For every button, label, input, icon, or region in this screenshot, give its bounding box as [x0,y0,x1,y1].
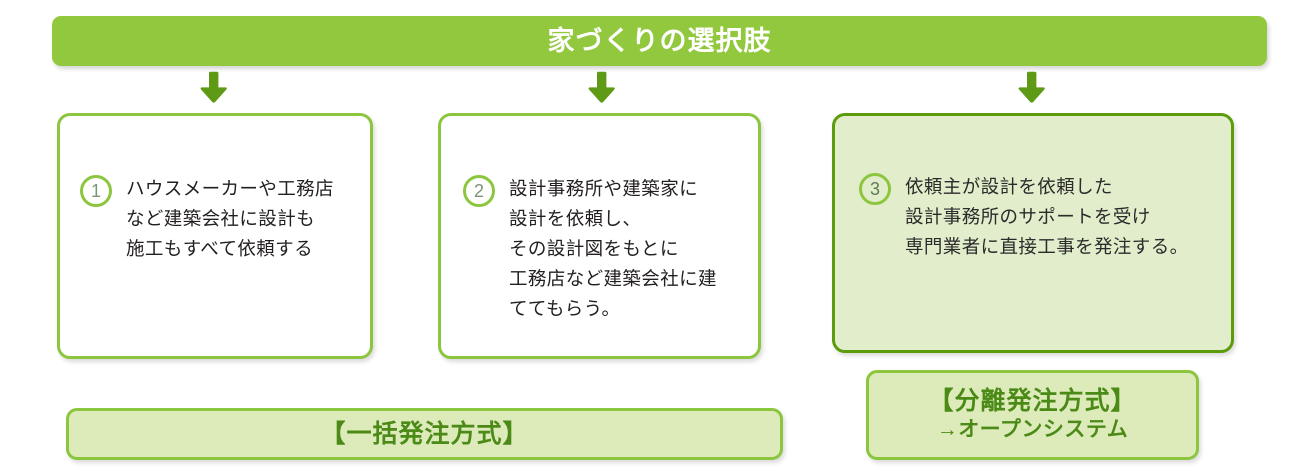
option-description-2: 設計事務所や建築家に 設計を依頼し、 その設計図をもとに 工務店など建築会社に建… [509,174,717,324]
option-card-3: 3 依頼主が設計を依頼した 設計事務所のサポートを受け 専門業者に直接工事を発注… [832,113,1234,353]
arrow-down-icon [197,71,229,105]
label-banner-separate-order: 【分離発注方式】 →オープンシステム [866,370,1199,460]
label-banner-separate-order-title: 【分離発注方式】 [928,387,1136,416]
arrow-down-icon [585,71,617,105]
label-banner-bulk-order-title: 【一括発注方式】 [320,420,528,449]
option-number-badge-1: 1 [80,175,112,207]
option-number-badge-3: 3 [859,173,891,205]
option-description-1: ハウスメーカーや工務店 など建築会社に設計も 施工もすべて依頼する [126,174,334,264]
header-banner: 家づくりの選択肢 [52,16,1267,66]
option-number-badge-2: 2 [463,175,495,207]
label-banner-separate-order-subtitle: →オープンシステム [937,416,1129,443]
option-card-2: 2 設計事務所や建築家に 設計を依頼し、 その設計図をもとに 工務店など建築会社… [438,113,761,359]
option-card-2-content: 2 設計事務所や建築家に 設計を依頼し、 その設計図をもとに 工務店など建築会社… [463,174,717,324]
option-card-1: 1 ハウスメーカーや工務店 など建築会社に設計も 施工もすべて依頼する [57,113,373,359]
option-card-3-content: 3 依頼主が設計を依頼した 設計事務所のサポートを受け 専門業者に直接工事を発注… [859,172,1189,262]
option-description-3: 依頼主が設計を依頼した 設計事務所のサポートを受け 専門業者に直接工事を発注する… [905,172,1189,262]
label-banner-bulk-order: 【一括発注方式】 [66,408,783,460]
arrow-down-icon [1015,71,1047,105]
option-card-1-content: 1 ハウスメーカーや工務店 など建築会社に設計も 施工もすべて依頼する [80,174,334,264]
page-title: 家づくりの選択肢 [548,28,772,55]
diagram-canvas: 家づくりの選択肢 1 ハウスメーカーや工務店 など建築会社に設計も 施工もすべて… [0,0,1300,472]
